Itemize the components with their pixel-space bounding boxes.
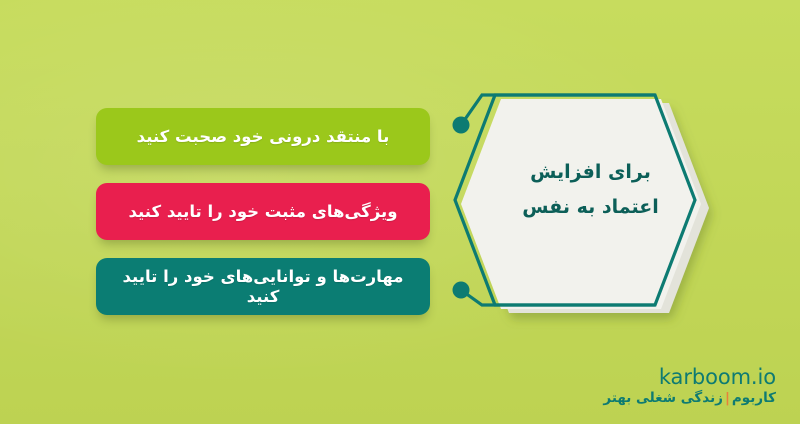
statement-bar-1: با منتقد درونی خود صحبت کنید: [96, 108, 430, 165]
statement-bar-3-label: مهارت‌ها و توانایی‌های خود را تایید کنید: [96, 267, 430, 307]
statement-bar-2: ویژگی‌های مثبت خود را تایید کنید: [96, 183, 430, 240]
statement-bar-2-label: ویژگی‌های مثبت خود را تایید کنید: [117, 202, 410, 222]
statement-bar-1-label: با منتقد درونی خود صحبت کنید: [125, 127, 402, 147]
brand-logo[interactable]: karboom.io کاربوم|زندگی شغلی بهتر: [603, 366, 776, 406]
brand-tagline-persian-name: کاربوم: [732, 390, 776, 406]
brand-tagline: کاربوم|زندگی شغلی بهتر: [603, 390, 776, 406]
hexagon-title: برای افزایش اعتماد به نفس: [498, 155, 683, 225]
connector-dot-bottom: [453, 282, 470, 299]
statement-bar-list: با منتقد درونی خود صحبت کنید ویژگی‌های م…: [96, 108, 430, 333]
brand-name: karboom.io: [603, 366, 776, 388]
hexagon-title-line-1: برای افزایش: [498, 155, 683, 190]
brand-tagline-separator: |: [723, 390, 732, 406]
hexagon-title-line-2: اعتماد به نفس: [498, 190, 683, 225]
statement-bar-3: مهارت‌ها و توانایی‌های خود را تایید کنید: [96, 258, 430, 315]
brand-tagline-text: زندگی شغلی بهتر: [603, 390, 723, 406]
infographic-canvas: با منتقد درونی خود صحبت کنید ویژگی‌های م…: [0, 0, 800, 424]
hexagon-cluster: برای افزایش اعتماد به نفس: [440, 55, 740, 345]
connector-dot-top: [453, 117, 470, 134]
